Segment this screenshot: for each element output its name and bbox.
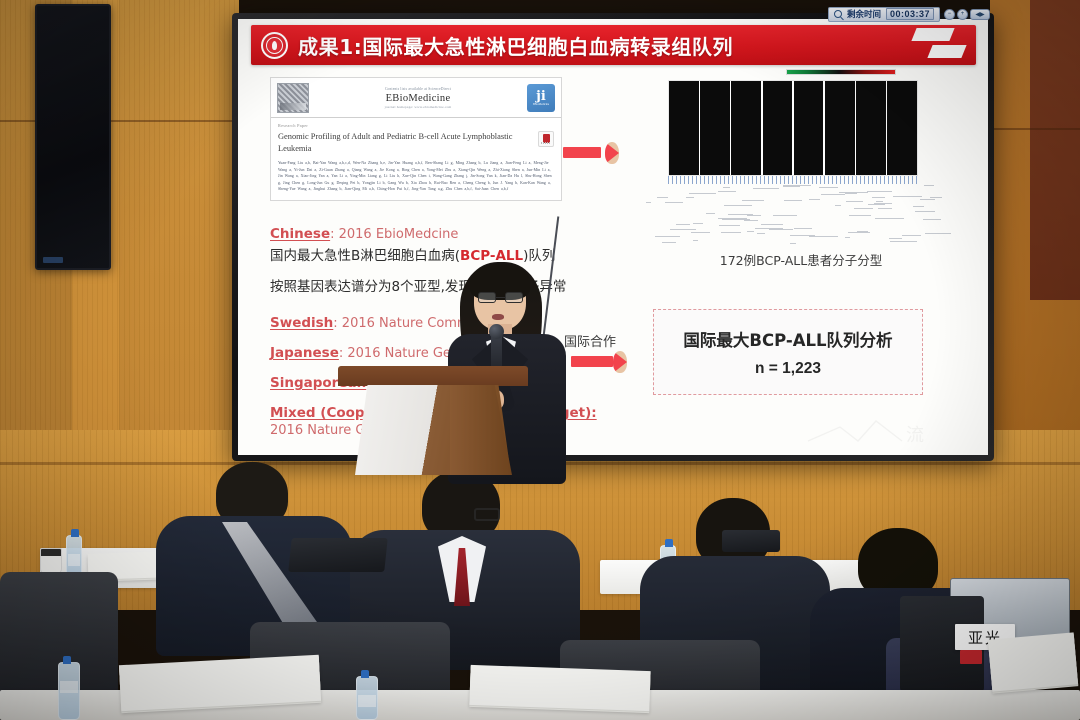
result-box-sample-size: n = 1,223 — [755, 360, 821, 378]
search-icon — [834, 10, 842, 18]
timer-value: 00:03:37 — [886, 8, 934, 20]
audience-glasses-2 — [474, 508, 500, 521]
bullet-chinese-rest: : 2016 EbioMedcine — [330, 227, 458, 242]
journal-logo-sub: EBioMedicine — [533, 104, 549, 107]
heatmap-matrix — [668, 80, 918, 176]
article-title: Genomic Profiling of Adult and Pediatric… — [278, 131, 532, 155]
lectern-top — [338, 366, 528, 386]
presenter-mouth — [492, 314, 504, 320]
journal-name: EBioMedicine — [315, 92, 521, 105]
institution-emblem-icon — [261, 32, 288, 59]
slide-title-banner: 成果1:国际最大急性淋巴细胞白血病转录组队列 — [251, 25, 976, 65]
laptop-1[interactable] — [288, 538, 388, 572]
heatmap-dendrogram — [668, 176, 918, 184]
water-bottle-4 — [356, 676, 378, 720]
wall-speaker-panel — [35, 4, 111, 270]
paper-stack-front-right — [988, 632, 1078, 691]
journal-homepage-note: journal homepage: www.ebiomedicine.com — [315, 105, 521, 109]
laptop-2[interactable] — [722, 530, 780, 552]
article-kicker: Research Paper — [278, 123, 554, 128]
svg-text:流: 流 — [906, 425, 924, 446]
result-summary-box: 国际最大BCP-ALL队列分析 n = 1,223 — [653, 309, 923, 395]
heatmap-cluster-6 — [825, 81, 855, 175]
journal-logo-glyph: ji — [536, 90, 546, 103]
heatmap-cluster-4 — [763, 81, 793, 175]
bullet-chinese-lang: Chinese — [270, 226, 330, 242]
heatmap-cluster-5 — [794, 81, 824, 175]
journal-header: Contents lists available at ScienceDirec… — [271, 78, 561, 118]
journal-cover-thumbnail — [277, 83, 309, 113]
heatmap-cluster-2 — [700, 81, 730, 175]
heatmap-cluster-3 — [731, 81, 761, 175]
minus-button[interactable]: − — [944, 9, 955, 20]
timer-controls[interactable]: − + ◀▶ — [944, 9, 990, 20]
heatmap-cluster-8 — [887, 81, 917, 175]
paper-cup-1 — [40, 548, 62, 574]
journal-title-block: Contents lists available at ScienceDirec… — [315, 87, 521, 109]
red-arrow-right-icon — [563, 147, 601, 158]
bullet-japanese-lang: Japanese — [270, 345, 339, 361]
timer-strip[interactable]: 剩余时间 00:03:37 — [828, 7, 940, 22]
heatmap-annotation-tracks — [644, 184, 944, 246]
faint-logo-watermark: 流 — [806, 415, 974, 449]
crossmark-icon — [538, 131, 554, 147]
article-title-row: Genomic Profiling of Adult and Pediatric… — [278, 131, 554, 155]
wall-panel-far-right — [1030, 0, 1080, 300]
presenter-glasses — [478, 292, 523, 303]
heatmap-cluster-7 — [856, 81, 886, 175]
article-authors: Yuan-Fang Liu a,b, Bai-Yan Wang a,b,c,d,… — [278, 160, 554, 192]
timer-label: 剩余时间 — [847, 8, 881, 20]
journal-paper-screenshot: Contents lists available at ScienceDirec… — [270, 77, 562, 201]
title-decoration — [886, 25, 976, 65]
bullet-swedish-lang: Swedish — [270, 315, 333, 331]
lectern — [338, 366, 528, 474]
result-box-title: 国际最大BCP-ALL队列分析 — [683, 327, 892, 351]
heatmap-figure: 172例BCP-ALL患者分子分型 — [636, 69, 966, 269]
countdown-timer-overlay[interactable]: 剩余时间 00:03:37 − + ◀▶ — [764, 5, 994, 23]
conference-photo-scene: 剩余时间 00:03:37 − + ◀▶ 成果1:国际最大急性淋巴细胞白血病转录… — [0, 0, 1080, 720]
name-sign-accent — [960, 650, 982, 664]
journal-article-block: Research Paper Genomic Profiling of Adul… — [271, 118, 561, 200]
heatmap-caption: 172例BCP-ALL患者分子分型 — [636, 250, 966, 269]
bullet-chinese: Chinese: 2016 EbioMedcine — [270, 223, 600, 242]
plus-button[interactable]: + — [957, 9, 968, 20]
slide-title-text: 成果1:国际最大急性淋巴细胞白血病转录组队列 — [298, 31, 733, 60]
wall-seam-right — [990, 128, 1080, 130]
journal-logo: ji EBioMedicine — [527, 84, 555, 112]
wall-panel-third — [119, 0, 239, 470]
water-bottle-3 — [58, 662, 80, 720]
lectern-side — [450, 385, 512, 475]
cn-line-1: 国内最大急性B淋巴细胞白血病(BCP-ALL)队列 — [270, 244, 600, 264]
speaker-brand-badge — [43, 257, 63, 263]
prev-next-buttons[interactable]: ◀▶ — [970, 9, 990, 20]
heatmap-cluster-1 — [669, 81, 699, 175]
paper-stack-front-mid — [469, 665, 650, 711]
heatmap-colorscale — [786, 69, 896, 75]
